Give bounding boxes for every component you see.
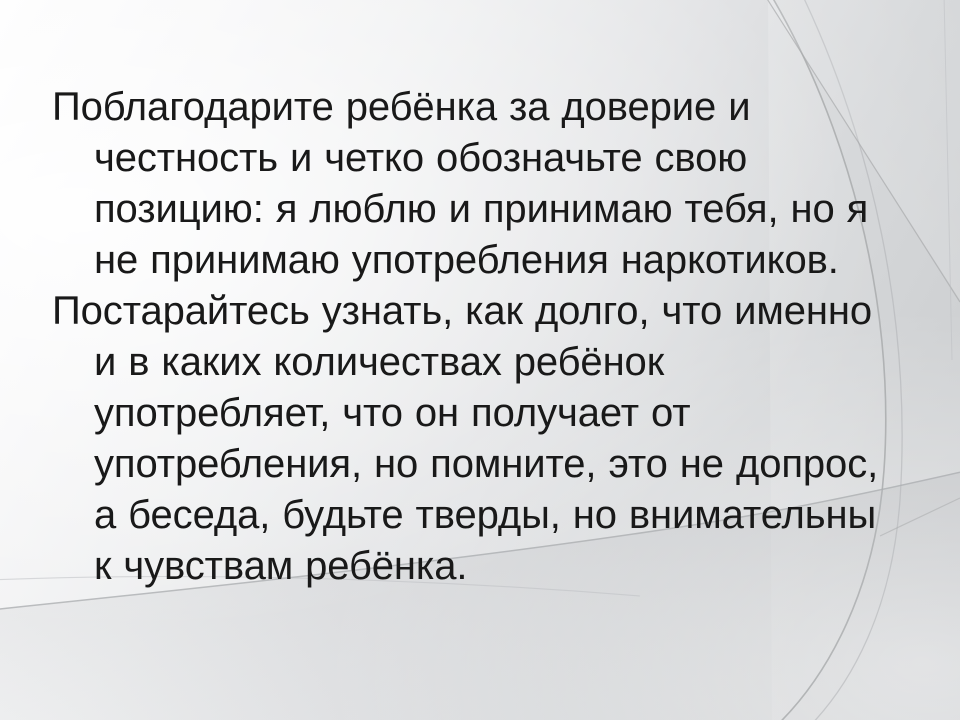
decorative-line-right-margin [944,0,952,360]
list-item-2: Поблагодарите ребёнка за доверие и честн… [52,82,902,286]
slide-body-text: Поблагодарите ребёнка за доверие и честн… [52,82,902,592]
presentation-slide: Поблагодарите ребёнка за доверие и честн… [0,0,960,720]
list-item-3: Постарайтесь узнать, как долго, что имен… [52,286,902,592]
